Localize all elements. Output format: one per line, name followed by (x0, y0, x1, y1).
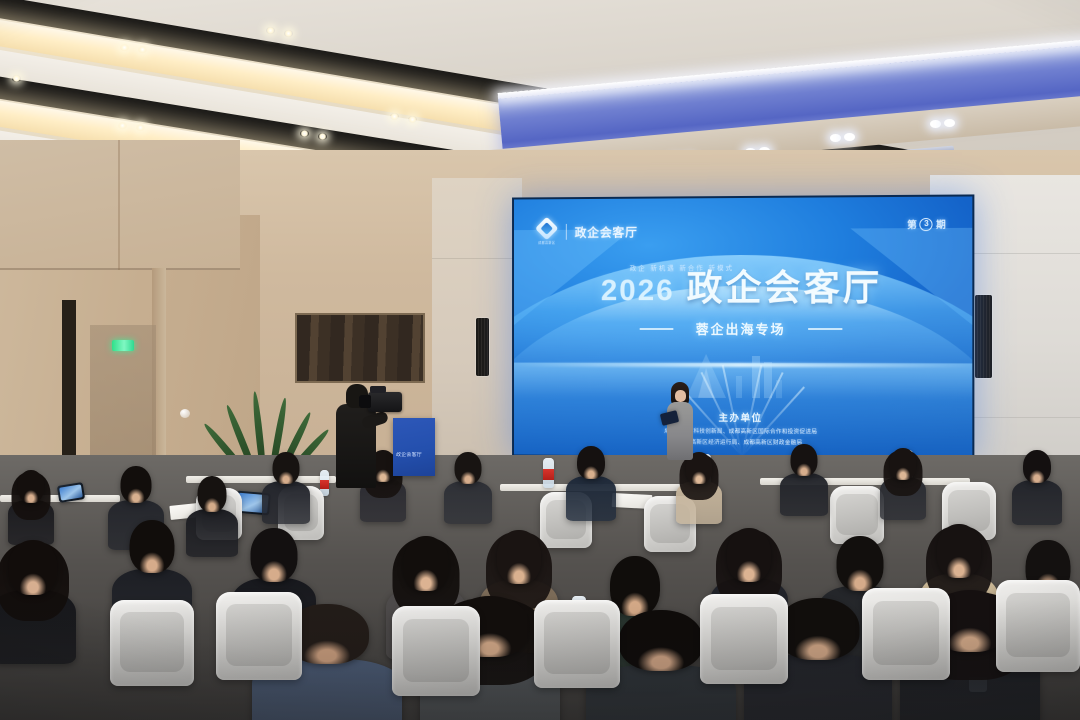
attendee-woman-far-right (880, 448, 926, 518)
attendee-head (777, 598, 860, 660)
attendee-head (937, 524, 981, 578)
chair (216, 592, 302, 680)
attendee-head (455, 452, 482, 484)
screen-organizers: 主办单位 成都高新区科技创新局、成都高新区国际合作和投资促进局 成都高新区经济运… (514, 409, 972, 447)
ceiling-spotlight (120, 44, 129, 51)
ceiling-spotlight (284, 30, 293, 37)
episode-number: 3 (920, 217, 933, 230)
chair (110, 600, 194, 686)
soffit-downlight (830, 134, 841, 142)
display-screen-surface (297, 315, 423, 381)
subtitle-dash-right (808, 328, 842, 330)
attendee-man-suit (262, 452, 310, 522)
attendee-torso (566, 476, 616, 521)
attendee-head (18, 470, 44, 503)
blue-lectern: 政企会客厅 (393, 418, 435, 476)
brand-label: 政企会客厅 (575, 223, 638, 240)
chengdu-hi-tech-zone-logo-icon: 成都高新区 (535, 219, 558, 245)
screen-title-zone: 政企 新机遇 新合作 新模式 2026 政企会客厅 蓉企出海专场 (514, 261, 972, 338)
attendee-head (497, 530, 541, 584)
logo-subtext: 成都高新区 (535, 241, 558, 246)
ceiling-spotlight (300, 130, 309, 137)
wall-mounted-display (295, 313, 425, 383)
attendee-head (130, 520, 175, 573)
attendee-head (837, 536, 884, 591)
attendee-head (251, 528, 298, 582)
episode-badge: 第 3 期 (907, 217, 946, 231)
camera-hood (370, 386, 386, 393)
camera-lens (359, 395, 371, 408)
attendee-head (577, 446, 605, 479)
screen-year: 2026 (601, 276, 675, 306)
attendee-head (121, 466, 152, 503)
attendee-man-dark (186, 476, 238, 554)
chair (392, 606, 480, 696)
attendee-woman-left (8, 470, 54, 542)
water-bottle (543, 458, 554, 488)
attendee-head (791, 444, 818, 476)
screen-title-line: 2026 政企会客厅 (514, 269, 972, 306)
ceiling-spotlight (136, 124, 145, 131)
organizer-line: 成都高新区科技创新局、成都高新区国际合作和投资促进局 (514, 426, 972, 436)
wall-speaker-left (476, 318, 489, 376)
attendee-head (198, 476, 227, 512)
attendee-head (9, 540, 57, 595)
soffit-downlight (944, 119, 955, 127)
chair (700, 594, 788, 684)
screen-main-title: 政企会客厅 (687, 270, 883, 306)
ceiling-spotlight (118, 122, 127, 129)
ceiling-spotlight (266, 27, 275, 34)
ceiling-spotlight (408, 116, 417, 123)
ceiling-spotlight (12, 75, 21, 82)
led-screen-surface: 成都高新区 政企会客厅 第 3 期 政企 新机遇 新合作 新模式 2026 政企… (514, 196, 972, 457)
lectern-label: 政企会客厅 (396, 452, 432, 466)
video-camera-icon (368, 392, 402, 412)
chair (862, 588, 950, 680)
left-wall-upper-panel (0, 140, 240, 270)
led-stage-screen: 成都高新区 政企会客厅 第 3 期 政企 新机遇 新合作 新模式 2026 政企… (512, 194, 974, 459)
ceiling-spotlight (318, 133, 327, 140)
left-door-gap (62, 300, 76, 465)
attendee-head (273, 452, 300, 484)
attendee-torso (1012, 480, 1062, 525)
presenter-with-tablet (663, 382, 697, 460)
wall-speaker-right (975, 295, 992, 378)
chair (534, 600, 620, 688)
presenter-face (675, 390, 686, 402)
ceiling-spotlight (390, 113, 399, 120)
subtitle-dash-left (640, 327, 674, 329)
ceiling-spotlight (138, 46, 147, 53)
attendee-head (404, 536, 449, 591)
exit-sign-icon (112, 340, 134, 351)
attendee-head (727, 528, 771, 582)
attendee-man-corner (1012, 450, 1062, 522)
attendee-head (890, 448, 916, 480)
brand-divider (566, 224, 567, 240)
screen-subtitle: 蓉企出海专场 (696, 319, 786, 338)
attendee-man-right (780, 444, 828, 514)
attendee-torso (186, 509, 238, 557)
episode-suffix: 期 (936, 217, 946, 231)
attendee-head (1023, 450, 1051, 483)
attendee-torso (780, 473, 828, 516)
chair (996, 580, 1080, 672)
screen-brand-lockup: 成都高新区 政企会客厅 (535, 219, 637, 245)
episode-prefix: 第 (907, 217, 917, 231)
wall-fixture-knob (180, 409, 190, 418)
organizer-title: 主办单位 (514, 409, 972, 425)
screen-subtitle-line: 蓉企出海专场 (514, 319, 972, 338)
soffit-downlight (930, 120, 941, 128)
attendee-torso (444, 481, 492, 524)
videographer (332, 384, 394, 488)
soffit-downlight (844, 133, 855, 141)
attendee-front-woman (0, 540, 76, 660)
attendee-man-grey (444, 452, 492, 522)
attendee-head (619, 610, 703, 671)
attendee-torso (262, 481, 310, 524)
attendee-man-blue (566, 446, 616, 518)
conference-hall-screenshot: 成都高新区 政企会客厅 第 3 期 政企 新机遇 新合作 新模式 2026 政企… (0, 0, 1080, 720)
attendee-woman-tan (676, 452, 722, 522)
